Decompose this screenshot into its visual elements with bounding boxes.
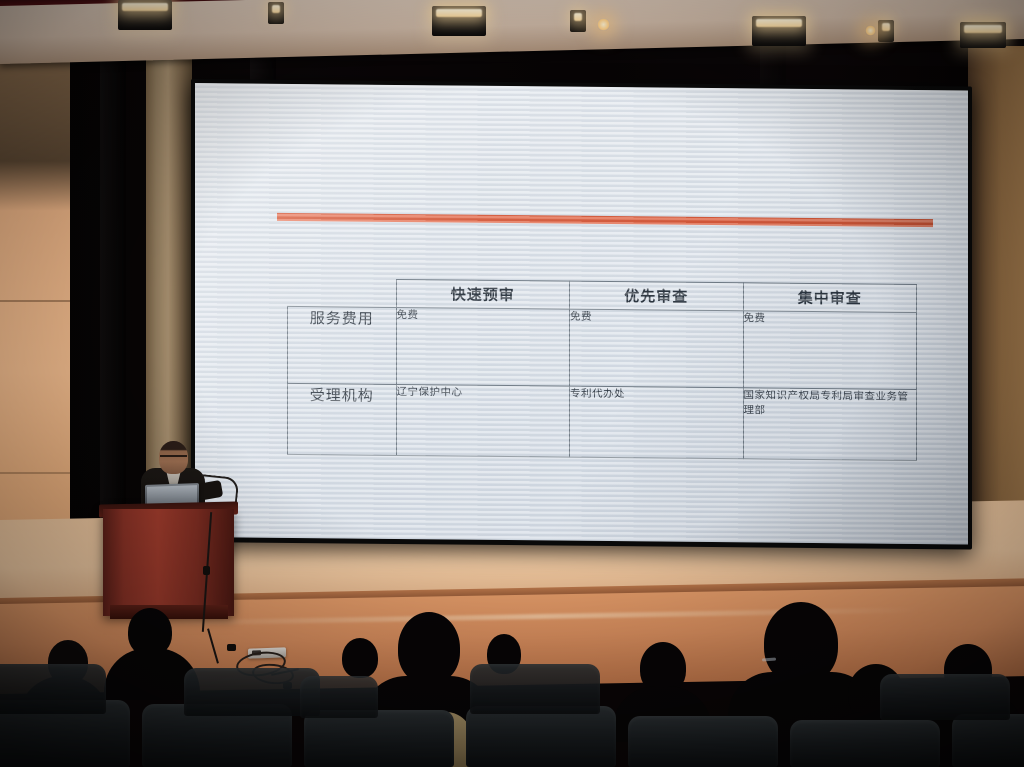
wall-seam-lower: [0, 472, 70, 474]
auditorium-photo: 快速预审 优先审查 集中审查 服务费用 免费 免费 免费 受理机构 辽宁保护中心…: [0, 0, 1024, 767]
ceiling-light-7: [570, 10, 586, 32]
slide-accent-line: [277, 213, 933, 227]
podium-base: [110, 605, 228, 619]
seat: [300, 676, 378, 718]
wall-seam: [0, 300, 70, 302]
ceiling-light-8: [878, 20, 894, 42]
spot-light-glow-2: [865, 25, 876, 36]
ceiling-light-2: [432, 6, 486, 36]
seat: [880, 674, 1010, 720]
ceiling-light-3: [752, 16, 806, 46]
comparison-table: 快速预审 优先审查 集中审查 服务费用 免费 免费 免费 受理机构 辽宁保护中心…: [287, 278, 917, 461]
cell-fee-centralized: 免费: [743, 311, 917, 390]
seat: [0, 664, 106, 714]
table-row: 受理机构 辽宁保护中心 专利代办处 国家知识产权局专利局审查业务管理部: [288, 383, 917, 460]
seat: [470, 664, 600, 714]
table-corner-cell: [288, 278, 397, 307]
ceiling-light-6: [268, 2, 284, 24]
table-row: 服务费用 免费 免费 免费: [288, 306, 917, 389]
glasses-icon: [160, 455, 187, 462]
spot-light-glow-1: [597, 18, 610, 31]
cable-clip-1: [203, 566, 210, 575]
seat: [304, 710, 454, 767]
row-label-agency: 受理机构: [288, 383, 397, 455]
row-label-service-fee: 服务费用: [288, 306, 397, 384]
cell-agency-fast: 辽宁保护中心: [396, 384, 570, 457]
seat: [628, 716, 778, 767]
cable-clip-2: [227, 644, 236, 651]
ceiling-light-1: [118, 0, 172, 30]
table-col-header-3: 集中审查: [743, 283, 917, 313]
seat: [466, 706, 616, 767]
slide-banner: [236, 149, 968, 208]
seat: [952, 714, 1024, 767]
podium: [103, 509, 234, 616]
audience-head: [398, 612, 460, 684]
projection-screen: 快速预审 优先审查 集中审查 服务费用 免费 免费 免费 受理机构 辽宁保护中心…: [195, 83, 968, 544]
table-col-header-1: 快速预审: [396, 279, 570, 309]
ceiling-light-5: [960, 22, 1006, 48]
cell-agency-priority: 专利代办处: [570, 386, 744, 459]
cell-agency-centralized: 国家知识产权局专利局审查业务管理部: [743, 388, 917, 461]
projection-screen-frame: 快速预审 优先审查 集中审查 服务费用 免费 免费 免费 受理机构 辽宁保护中心…: [191, 79, 972, 549]
table-col-header-2: 优先审查: [570, 281, 744, 311]
cell-fee-priority: 免费: [570, 309, 744, 388]
cell-fee-fast: 免费: [396, 307, 570, 386]
audience-head: [342, 638, 378, 678]
seat: [790, 720, 940, 767]
